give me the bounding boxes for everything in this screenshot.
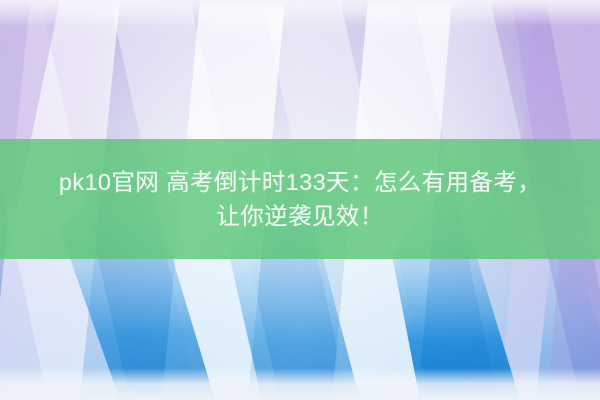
headline-line-1: pk10官网 高考倒计时133天：怎么有用备考， (59, 165, 541, 199)
headline-line-2: 让你逆袭见效！ (216, 199, 383, 233)
headline-banner: pk10官网 高考倒计时133天：怎么有用备考， 让你逆袭见效！ (0, 139, 600, 259)
promo-banner-image: pk10官网 高考倒计时133天：怎么有用备考， 让你逆袭见效！ (0, 0, 600, 400)
